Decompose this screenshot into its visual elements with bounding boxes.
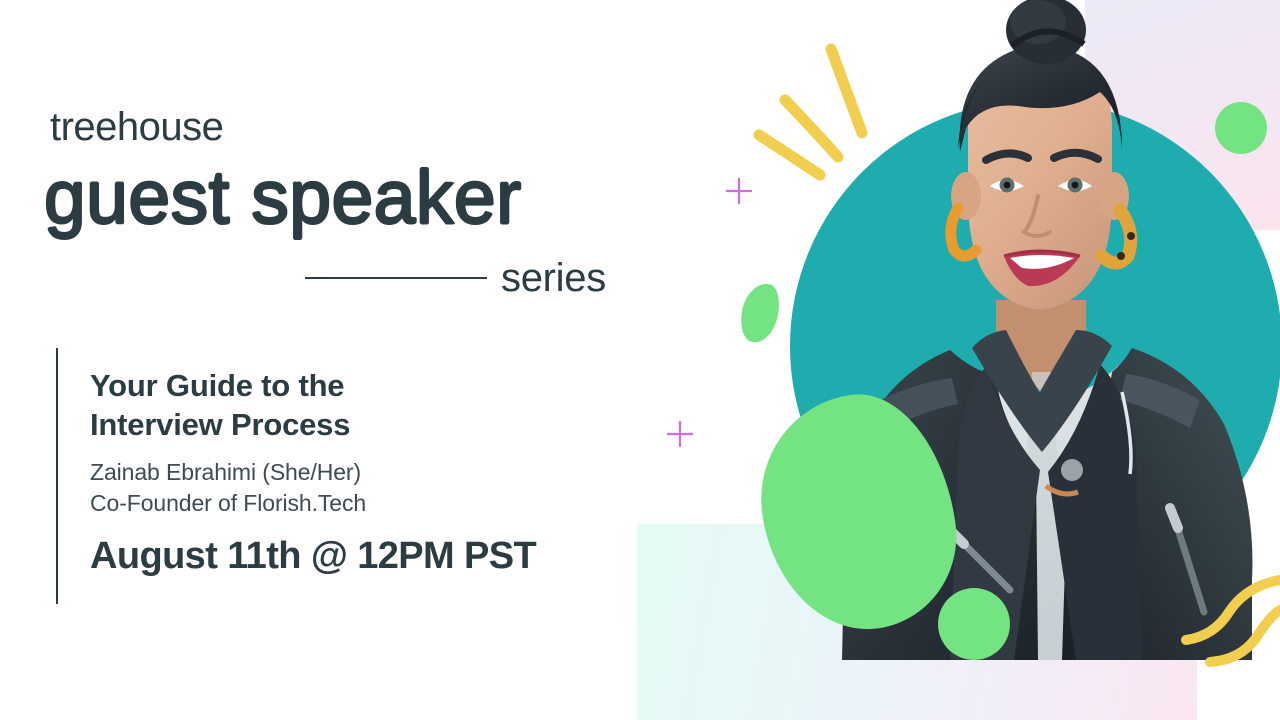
headline-guest-speaker: guest speaker (44, 160, 522, 235)
brand-wordmark: treehouse (50, 107, 223, 147)
series-divider-rule (305, 277, 487, 279)
guest-speaker-poster: treehouse guest speaker series Your Guid… (0, 0, 1280, 720)
green-circle-bottom (938, 588, 1010, 660)
talk-title-line-2: Interview Process (90, 406, 630, 445)
series-label: series (501, 258, 606, 298)
green-blob-small (736, 280, 784, 346)
talk-info-block: Your Guide to the Interview Process Zain… (90, 367, 630, 575)
speaker-name: Zainab Ebrahimi (She/Her) (90, 457, 630, 489)
speaker-role: Co-Founder of Florish.Tech (90, 488, 630, 520)
magenta-plus-upper (725, 177, 753, 205)
magenta-plus-lower (666, 420, 694, 448)
talk-title: Your Guide to the Interview Process (90, 367, 630, 445)
left-accent-bar (56, 348, 58, 604)
event-datetime: August 11th @ 12PM PST (90, 537, 630, 575)
series-row: series (305, 258, 606, 298)
talk-title-line-1: Your Guide to the (90, 367, 630, 406)
